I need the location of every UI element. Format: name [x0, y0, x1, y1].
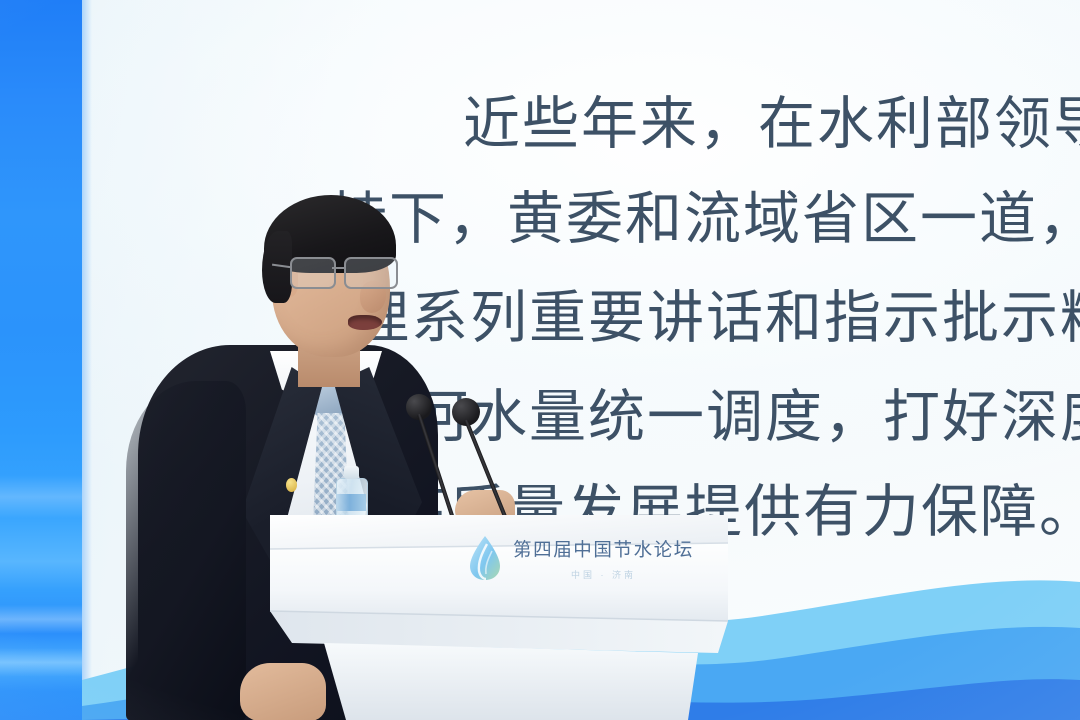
glasses-icon [290, 257, 398, 287]
podium-title: 第四届中国节水论坛 [513, 536, 694, 562]
glasses-lens-left [290, 257, 336, 289]
glasses-bridge [332, 267, 346, 269]
podium-subtitle: 中国 · 济南 [571, 568, 636, 581]
speaker-shoulder-left [126, 381, 246, 720]
glasses-lens-right [344, 257, 398, 289]
podium-title-group: 第四届中国节水论坛 中国 · 济南 [513, 536, 694, 581]
podium-branding: 第四届中国节水论坛 中国 · 济南 [468, 535, 694, 581]
water-bottle-cap [344, 466, 359, 479]
conference-photo-stage: 近些年来，在水利部领导下， 持下，黄委和流域省区一道，坚决贯 理系列重要讲话和指… [0, 0, 1080, 720]
lapel-pin-icon [286, 478, 297, 492]
water-drop-icon [468, 535, 502, 581]
screen-left-blue-band [0, 0, 82, 720]
podium: 第四届中国节水论坛 中国 · 济南 [258, 503, 728, 720]
